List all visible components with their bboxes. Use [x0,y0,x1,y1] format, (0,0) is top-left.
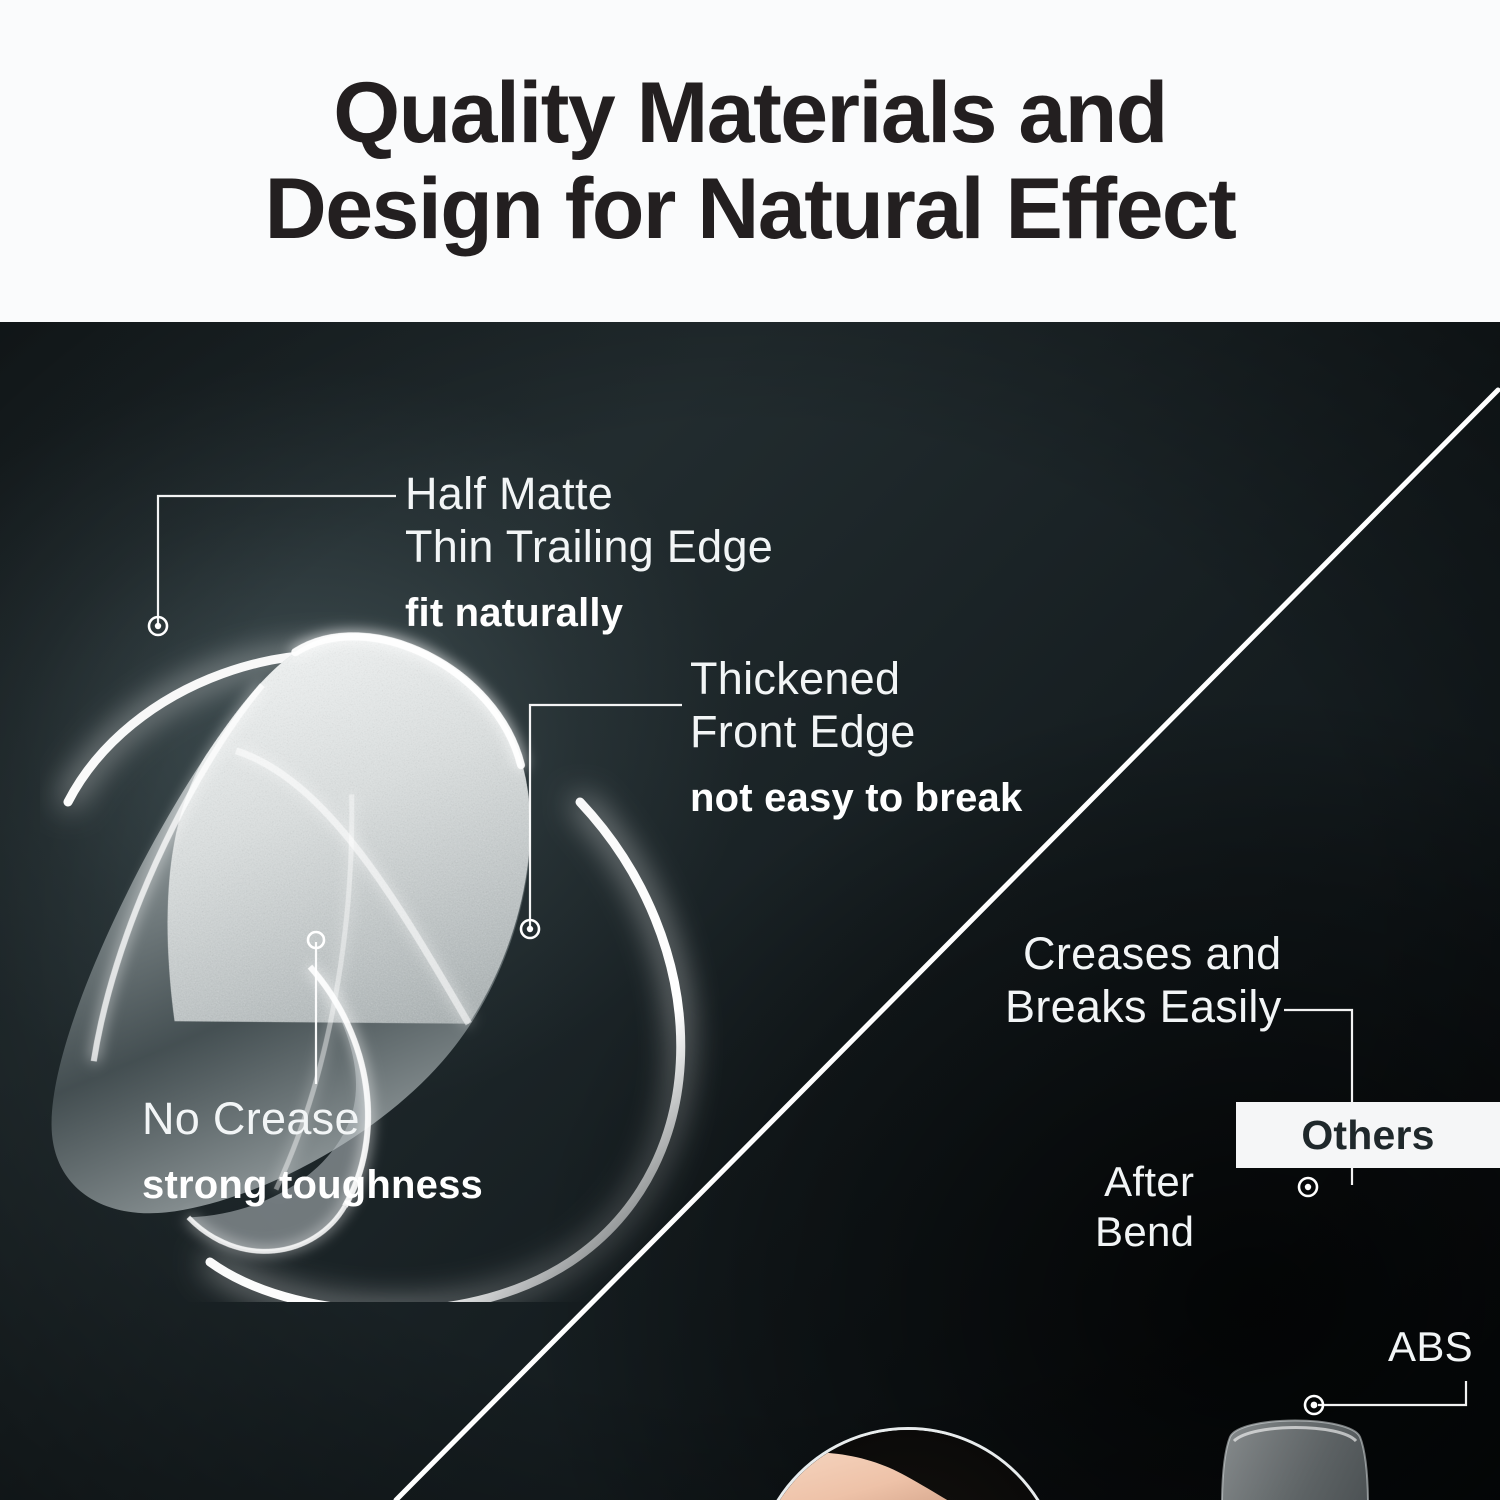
photo-inset-fingers-bending-tip [753,1427,1063,1500]
page-title-line2: Design for Natural Effect [265,161,1236,257]
page-title-line1: Quality Materials and [333,65,1167,161]
callout-abs-title-1: ABS [1388,1322,1473,1372]
callout-thickened-title-1: Thickened [690,652,1022,705]
callout-after-bend-title-1: After [1095,1157,1194,1207]
callout-creases-breaks: Creases and Breaks Easily [1005,927,1282,1033]
abs-nail-svg [1200,1407,1390,1500]
callout-half-matte: Half Matte Thin Trailing Edge fit natura… [405,467,773,637]
abs-nail-body [1222,1421,1368,1500]
infographic-page: Quality Materials and Design for Natural… [0,0,1500,1500]
callout-half-matte-title-2: Thin Trailing Edge [405,520,773,573]
leader-abs [1318,1381,1466,1405]
callout-thickened-subtitle: not easy to break [690,774,1022,822]
callout-creases-title-2: Breaks Easily [1005,980,1282,1033]
callout-after-bend-title-2: Bend [1095,1207,1194,1257]
callout-no-crease-title-1: No Crease [142,1092,483,1145]
callout-half-matte-subtitle: fit naturally [405,589,773,637]
callout-no-crease-subtitle: strong toughness [142,1161,483,1209]
callout-thickened-title-2: Front Edge [690,705,1022,758]
marker-creases-dot [1305,1184,1311,1190]
callout-thickened-front-edge: Thickened Front Edge not easy to break [690,652,1022,822]
callout-abs: ABS [1388,1322,1473,1372]
comparison-panel: Half Matte Thin Trailing Edge fit natura… [0,322,1500,1500]
callout-no-crease: No Crease strong toughness [142,1092,483,1209]
callout-creases-title-1: Creases and [1005,927,1282,980]
badge-others: Others [1236,1102,1500,1168]
fingers-pinching-nail-illustration [756,1430,1060,1500]
header-banner: Quality Materials and Design for Natural… [0,0,1500,322]
abs-nail-tip-visual [1200,1407,1390,1500]
marker-creases [1299,1178,1317,1196]
others-badge-label: Others [1301,1112,1434,1159]
callout-after-bend: After Bend [1095,1157,1194,1256]
callout-half-matte-title-1: Half Matte [405,467,773,520]
